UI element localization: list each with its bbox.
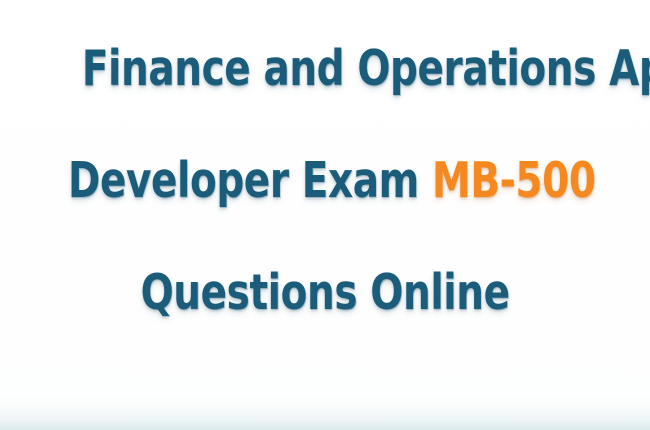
promo-banner: Finance and Operations Apps Developer Ex… [0,0,650,430]
headline-line-2: Developer Exam MB-500 [0,156,650,226]
headline-line-2-squeeze: Developer Exam MB-500 [68,156,596,205]
headline-line-2-text: Developer Exam [68,152,432,209]
headline-block: Finance and Operations Apps Developer Ex… [0,0,650,360]
headline-line-1-text: Finance and Operations Apps [82,44,650,93]
bottom-edge-wash [0,404,650,430]
headline-line-1: Finance and Operations Apps [0,44,650,114]
headline-line-3: Questions Online [0,268,650,338]
headline-line-3-text: Questions Online [140,268,509,317]
exam-code-accent: MB-500 [432,152,596,209]
